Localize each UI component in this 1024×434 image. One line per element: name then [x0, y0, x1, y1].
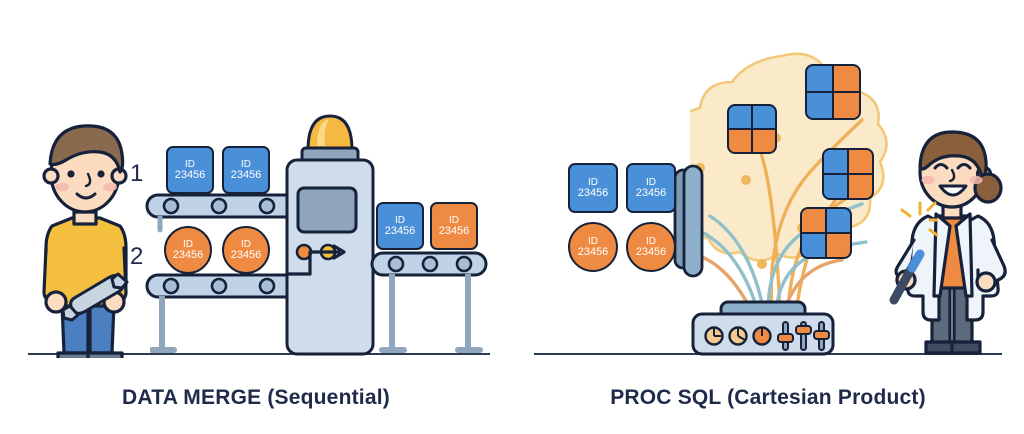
output-item-1: ID 23456: [376, 202, 424, 250]
tile-quadrant-br: [827, 234, 850, 257]
token-label-line2: 23456: [173, 250, 204, 261]
cartesian-output-tile-3: [822, 148, 874, 200]
conveyor-bottom-item-2: ID 23456: [222, 226, 270, 274]
sql-engine-machine: [690, 300, 836, 356]
factory-worker-figure: [22, 108, 144, 358]
machine-sliders: [778, 322, 829, 350]
left-panel-caption: DATA MERGE (Sequential): [0, 386, 512, 410]
merge-machine: [284, 104, 376, 356]
machine-dials: [706, 328, 771, 345]
input-plate: [672, 164, 708, 280]
token-label-line2: 23456: [439, 226, 470, 237]
token-label-line2: 23456: [578, 188, 609, 199]
tile-quadrant-tr: [753, 106, 775, 128]
right-panel-caption: PROC SQL (Cartesian Product): [512, 386, 1024, 410]
conveyor-top-item-2: ID 23456: [222, 146, 270, 194]
tile-quadrant-tl: [824, 150, 847, 173]
tile-quadrant-bl: [824, 175, 847, 198]
cartesian-output-tile-4: [800, 207, 852, 259]
sql-input-item-1: ID 23456: [568, 163, 618, 213]
sql-input-item-3: ID 23456: [568, 222, 618, 272]
tile-quadrant-br: [753, 130, 775, 152]
tile-quadrant-tr: [849, 150, 872, 173]
tile-quadrant-tl: [802, 209, 825, 232]
illustration-canvas: 1 2 ID 23456 ID 23456: [0, 0, 1024, 434]
left-panel-data-merge: 1 2 ID 23456 ID 23456: [0, 0, 512, 434]
tile-quadrant-bl: [807, 93, 832, 118]
tile-quadrant-tr: [827, 209, 850, 232]
tile-quadrant-br: [834, 93, 859, 118]
sql-input-item-2: ID 23456: [626, 163, 676, 213]
tile-quadrant-bl: [729, 130, 751, 152]
cartesian-output-tile-2: [805, 64, 861, 120]
conveyor-bottom-item-1: ID 23456: [164, 226, 212, 274]
tile-quadrant-tl: [807, 66, 832, 91]
token-label-line2: 23456: [385, 226, 416, 237]
wand-sparkle-icon: [898, 200, 938, 240]
tile-quadrant-tl: [729, 106, 751, 128]
output-conveyor-legs: [374, 274, 486, 354]
tile-quadrant-tr: [834, 66, 859, 91]
scientist-figure: [888, 130, 1012, 356]
row-number-1: 1: [130, 160, 143, 188]
sql-input-item-4: ID 23456: [626, 222, 676, 272]
tile-quadrant-br: [849, 175, 872, 198]
cartesian-output-tile-1: [727, 104, 777, 154]
token-label-line2: 23456: [231, 170, 262, 181]
token-label-line2: 23456: [578, 247, 609, 258]
token-label-line2: 23456: [636, 188, 667, 199]
tile-quadrant-bl: [802, 234, 825, 257]
output-item-2: ID 23456: [430, 202, 478, 250]
conveyor-top-item-1: ID 23456: [166, 146, 214, 194]
token-label-line2: 23456: [636, 247, 667, 258]
right-panel-proc-sql: ID 23456 ID 23456 ID 23456 ID 23456: [512, 0, 1024, 434]
token-label-line2: 23456: [175, 170, 206, 181]
row-number-2: 2: [130, 243, 143, 271]
token-label-line2: 23456: [231, 250, 262, 261]
